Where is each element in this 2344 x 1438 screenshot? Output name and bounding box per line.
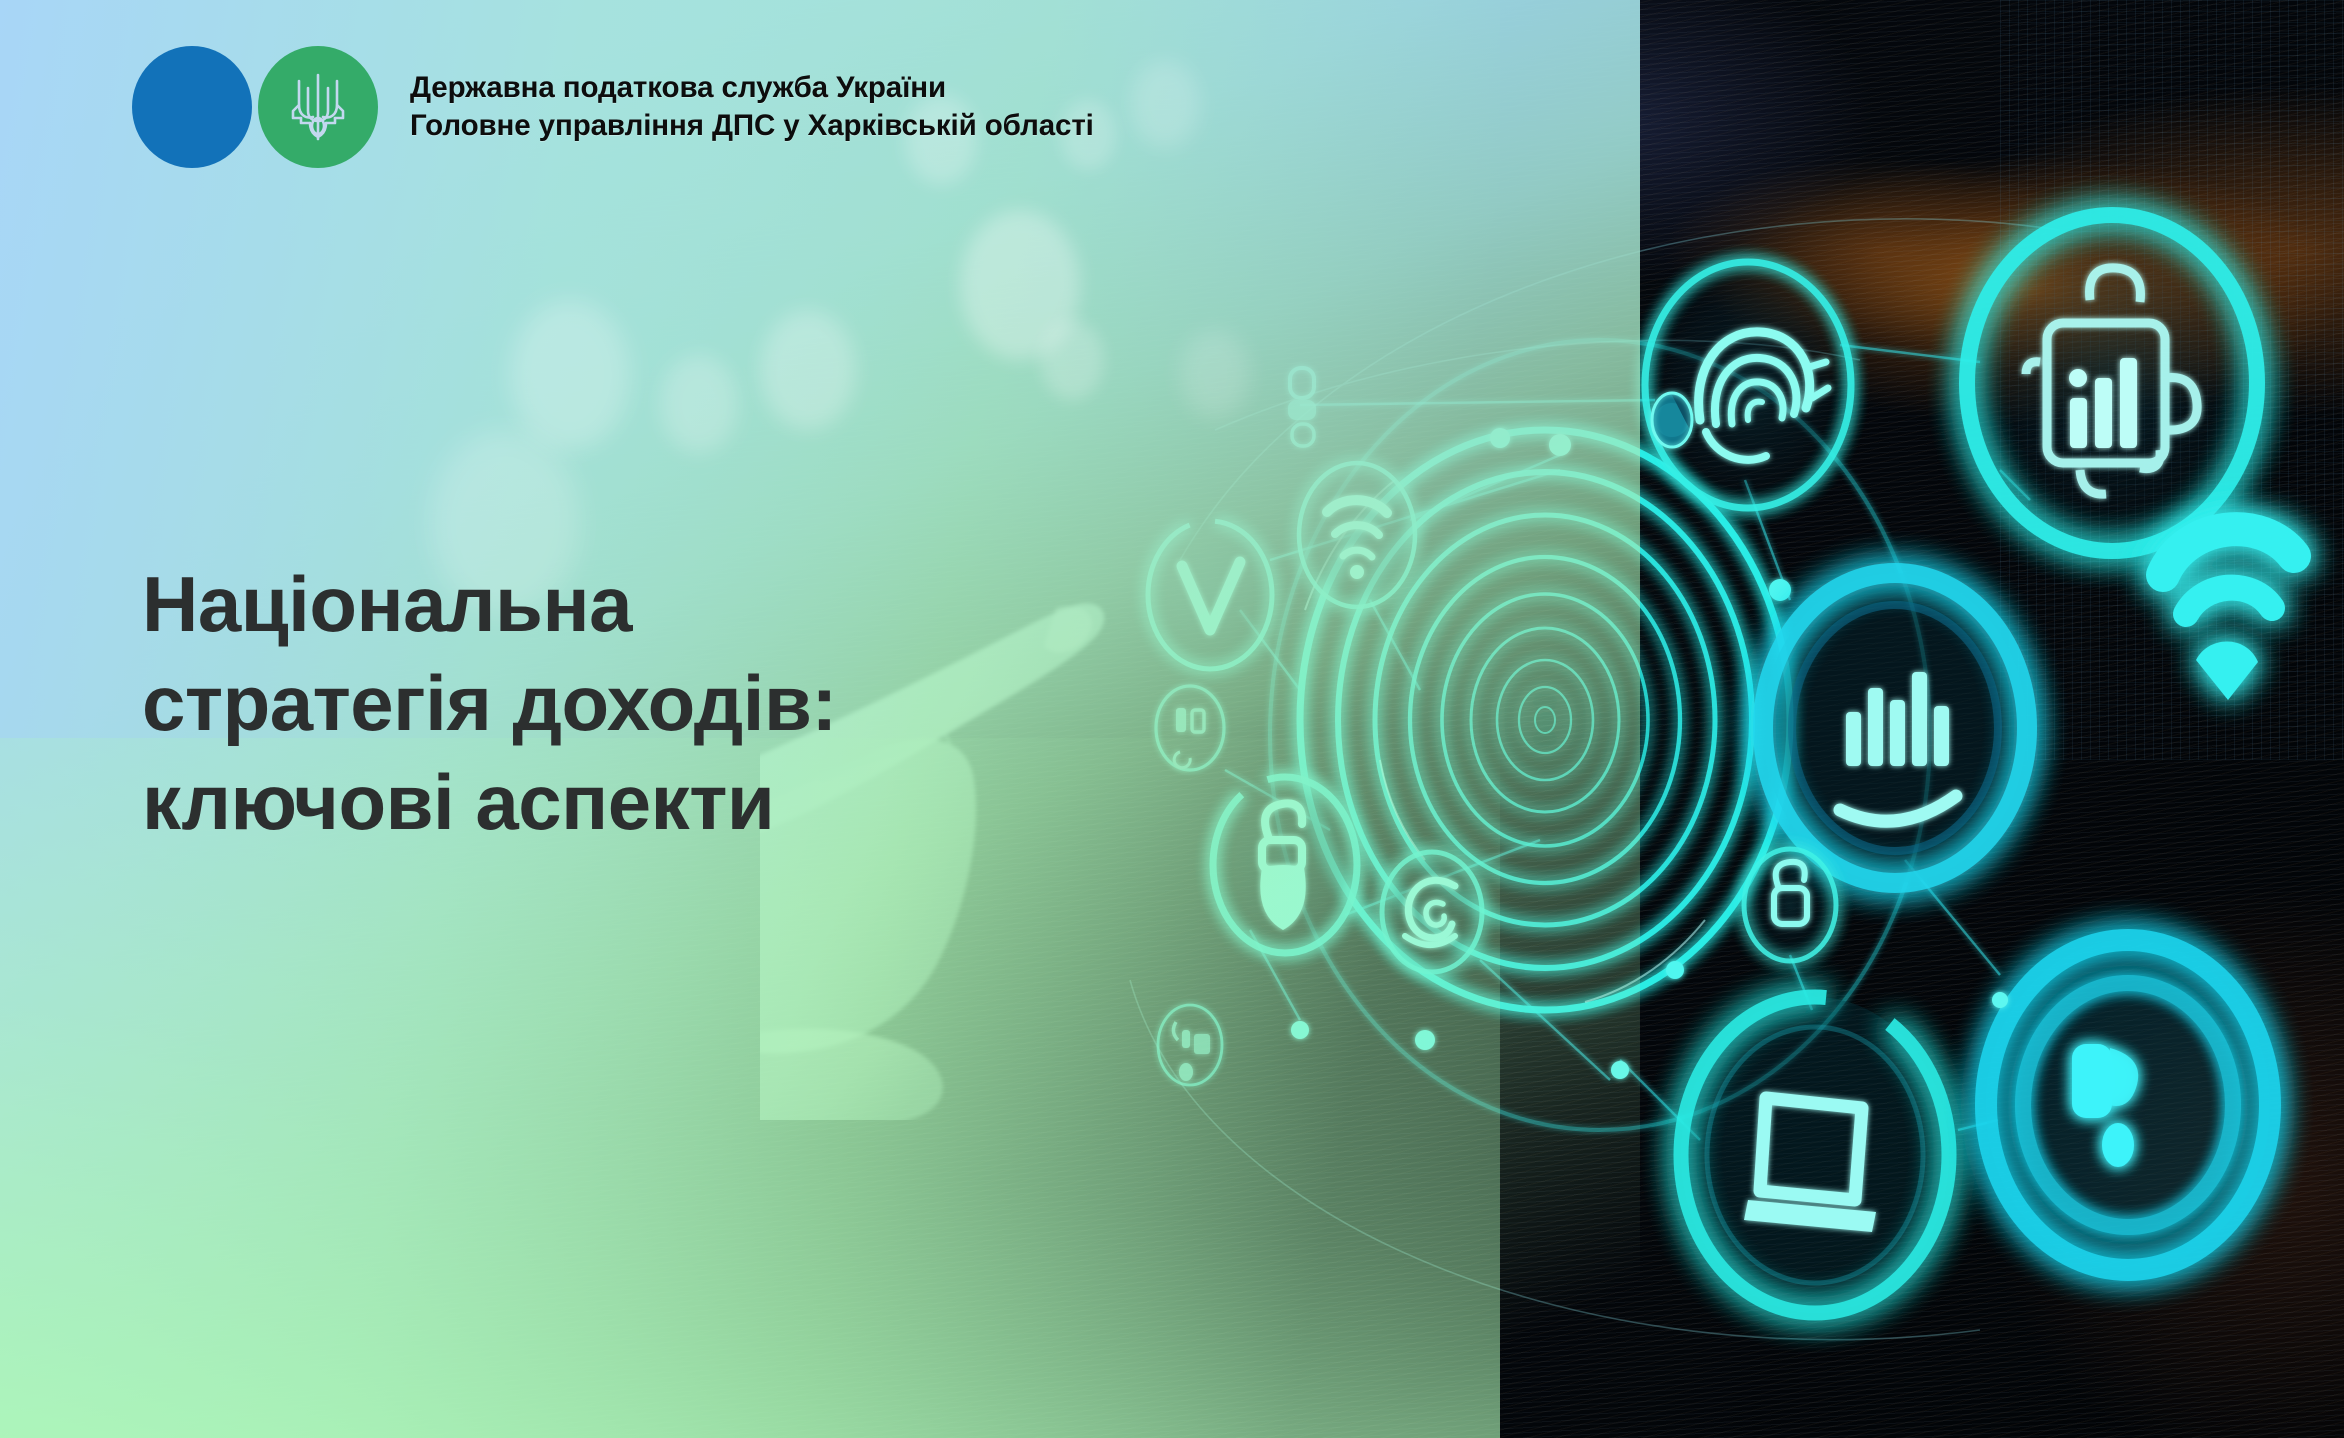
poster-canvas: Державна податкова служба України Головн… <box>0 0 2344 1438</box>
padlock-small-icon <box>1744 849 1836 961</box>
logo-line-2: Головне управління ДПС у Харківській обл… <box>410 107 1094 145</box>
headline-line-2: стратегія доходів: <box>142 654 837 753</box>
headline-line-1: Національна <box>142 555 837 654</box>
logo-marks <box>132 46 378 168</box>
logo-green-circle <box>258 46 378 168</box>
logo-text-block: Державна податкова служба України Головн… <box>410 69 1094 146</box>
headline-line-3: ключові аспекти <box>142 753 837 852</box>
logo-line-1: Державна податкова служба України <box>410 69 1094 107</box>
wifi-large-icon <box>2163 529 2294 700</box>
analytics-report-icon <box>1967 215 2257 551</box>
fingerprint-icon <box>1645 262 1851 508</box>
logo-blue-circle <box>132 46 252 168</box>
bar-chart-icon <box>1763 573 2027 883</box>
laptop-icon <box>1681 997 1949 1313</box>
ukraine-trident-icon <box>289 71 347 143</box>
page-title: Національна стратегія доходів: ключові а… <box>142 555 837 852</box>
secure-user-icon <box>1986 940 2270 1270</box>
dps-ukraine-logo[interactable]: Державна податкова служба України Головн… <box>132 46 1094 168</box>
